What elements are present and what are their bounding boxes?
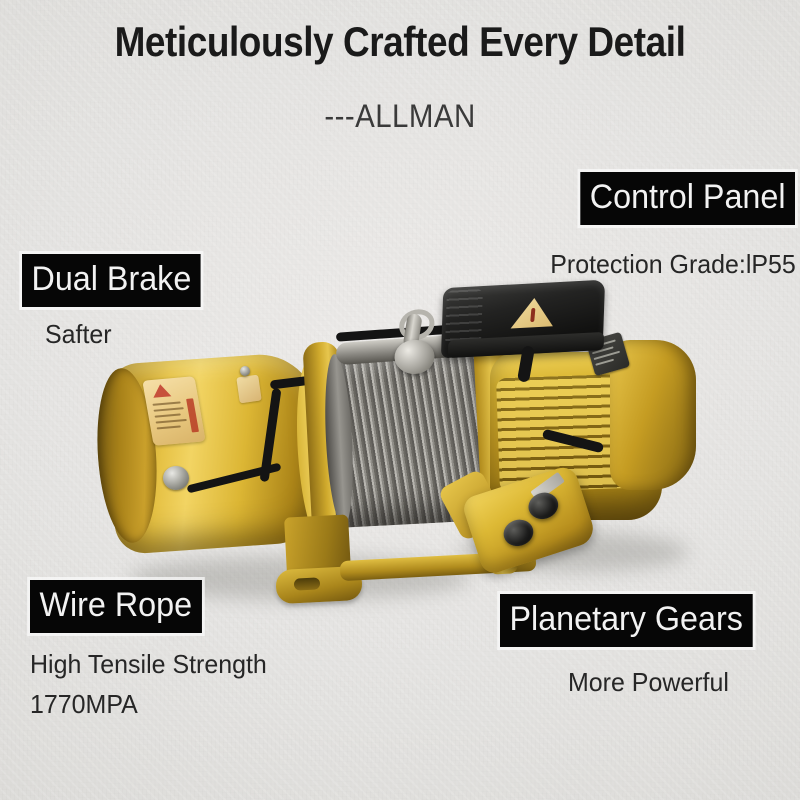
- sticker-text-line: [153, 407, 183, 412]
- product-image-winch: [90, 280, 730, 610]
- mounting-hole: [294, 577, 321, 590]
- badge-wire-rope: Wire Rope: [30, 580, 202, 633]
- warning-sticker: [142, 376, 205, 446]
- sticker-text-line: [157, 425, 181, 429]
- lifting-hook-icon: [384, 313, 441, 382]
- sticker-text-line: [152, 401, 180, 405]
- hook-body: [394, 339, 436, 375]
- terminal-box-ribs: [445, 289, 483, 345]
- poster-canvas: Meticulously Crafted Every Detail ---ALL…: [0, 0, 800, 800]
- warning-triangle-icon: [151, 383, 171, 397]
- caption-wire-rope-line2: 1770MPA: [30, 688, 138, 721]
- badge-control-panel: Control Panel: [580, 172, 795, 225]
- brand-subtitle: ---ALLMAN: [32, 98, 768, 135]
- spec-sticker: [236, 375, 261, 404]
- caption-control-panel: Protection Grade:lP55: [550, 248, 796, 281]
- sticker-text-line: [155, 413, 181, 417]
- caption-wire-rope-line1: High Tensile Strength: [30, 648, 267, 681]
- brake-center-bolt: [163, 466, 189, 490]
- pendant-button-up[interactable]: [525, 489, 562, 523]
- page-title: Meticulously Crafted Every Detail: [48, 18, 752, 66]
- sticker-red-bar: [186, 398, 199, 432]
- caption-dual-brake: Safter: [45, 318, 112, 351]
- caption-planetary-gears: More Powerful: [568, 666, 729, 699]
- bolt-icon: [240, 366, 250, 376]
- badge-planetary-gears: Planetary Gears: [500, 594, 752, 647]
- badge-dual-brake: Dual Brake: [22, 254, 201, 307]
- pendant-button-down[interactable]: [500, 516, 537, 550]
- sticker-text-line: [156, 419, 187, 424]
